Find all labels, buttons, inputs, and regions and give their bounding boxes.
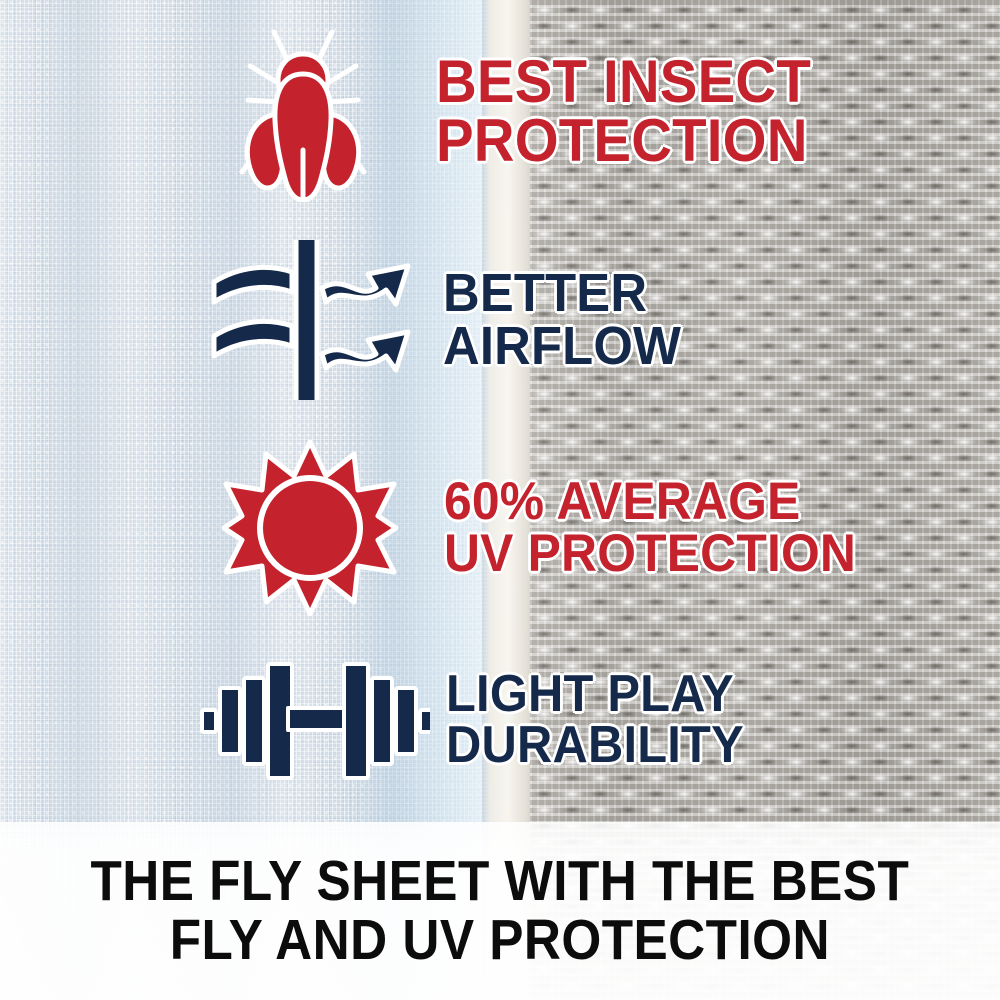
bottom-banner: THE FLY SHEET WITH THE BEST FLY AND UV P… <box>0 822 1000 1000</box>
sun-icon <box>222 440 398 616</box>
banner-headline: THE FLY SHEET WITH THE BEST FLY AND UV P… <box>91 852 910 971</box>
feature-row-uv-protection: 60% AVERAGE UV PROTECTION <box>222 440 882 616</box>
airflow-icon <box>206 240 421 400</box>
dumbbell-icon <box>200 660 430 780</box>
feature-label-airflow: BETTER AIRFLOW <box>443 267 681 373</box>
feature-label-uv-protection: 60% AVERAGE UV PROTECTION <box>444 476 856 580</box>
feature-row-durability: LIGHT PLAY DURABILITY <box>200 660 763 780</box>
feature-row-insect-protection: BEST INSECT PROTECTION <box>228 22 835 202</box>
feature-label-insect-protection: BEST INSECT PROTECTION <box>436 53 811 171</box>
feature-row-airflow: BETTER AIRFLOW <box>206 240 696 400</box>
infographic-canvas: BEST INSECT PROTECTION BETTER AIRF <box>0 0 1000 1000</box>
feature-label-durability: LIGHT PLAY DURABILITY <box>446 669 744 771</box>
fly-icon <box>228 22 378 202</box>
